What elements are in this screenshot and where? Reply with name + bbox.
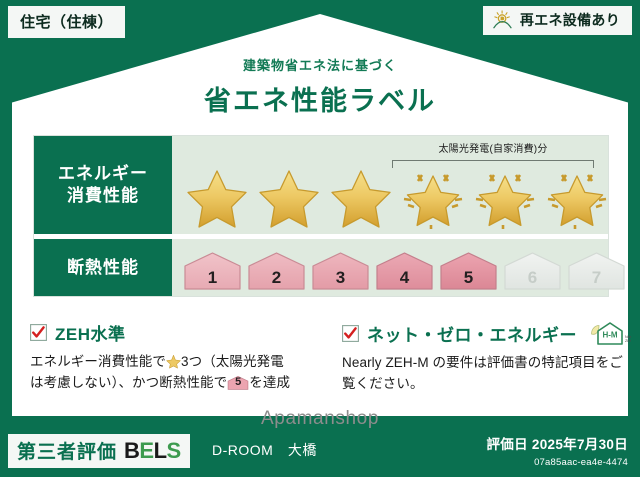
insulation-level-value: 4	[374, 268, 435, 288]
star-filled-solar	[398, 163, 468, 229]
insulation-level-value: 6	[502, 268, 563, 288]
insulation-level-badge-inactive: 6	[502, 248, 563, 292]
star-filled-solar	[470, 163, 540, 229]
star-rating	[182, 162, 602, 230]
insulation-level-badge: 4	[374, 248, 435, 292]
label-title-block: 建築物省エネ法に基づく 省エネ性能ラベル	[0, 55, 640, 118]
star-filled	[326, 163, 396, 229]
insulation-level-badge-achieved: 5	[438, 248, 499, 292]
energy-label-line1: エネルギー	[58, 163, 148, 185]
check-icon	[30, 324, 47, 341]
insulation-level-value: 2	[246, 268, 307, 288]
energy-performance-row: エネルギー 消費性能 太陽光発電(自家消費)分	[34, 136, 608, 234]
insulation-levels-area: 1 2 3	[172, 239, 608, 296]
title-main: 省エネ性能ラベル	[0, 79, 640, 118]
zeh-text-part3: を達成	[249, 375, 290, 390]
energy-performance-label: エネルギー 消費性能	[34, 136, 172, 234]
insulation-level-badge: 1	[182, 248, 243, 292]
insulation-performance-label: 断熱性能	[34, 239, 172, 296]
nzeb-heading: ネット・ゼロ・エネルギー H-M Nearly ZEH-M	[342, 320, 631, 346]
insulation-level-badge-inactive: 7	[566, 248, 627, 292]
zeh-text-part2: は考慮しない）、かつ断熱性能で	[30, 375, 227, 390]
insulation-level-badge: 3	[310, 248, 371, 292]
title-subtitle: 建築物省エネ法に基づく	[0, 55, 640, 74]
insulation-level-value: 3	[310, 268, 371, 288]
building-type-tag: 住宅（住棟）	[8, 6, 125, 38]
evaluation-info: 評価日 2025年7月30日 07a85aac-ea4e-4474	[486, 433, 628, 468]
sun-icon	[492, 10, 514, 30]
watermark: Apamanshop	[0, 408, 640, 430]
svg-text:H-M: H-M	[602, 331, 617, 340]
project-name: D-ROOM 大橋	[212, 440, 317, 460]
star-filled	[254, 163, 324, 229]
zeh-description: エネルギー消費性能で3つ（太陽光発電は考慮しない）、かつ断熱性能で5を達成	[30, 352, 330, 394]
certification-info-row: ZEH水準 エネルギー消費性能で3つ（太陽光発電は考慮しない）、かつ断熱性能で5…	[30, 320, 618, 395]
zeh-m-house-logo: H-M Nearly ZEH-M	[585, 320, 631, 346]
insulation-level-value: 1	[182, 268, 243, 288]
rating-card: エネルギー 消費性能 太陽光発電(自家消費)分	[33, 135, 609, 297]
insulation-level-value: 5	[438, 268, 499, 288]
zeh-title: ZEH水準	[55, 320, 126, 345]
nzeb-description: Nearly ZEH-M の要件は評価書の特記項目をご覧ください。	[342, 353, 631, 395]
energy-stars-area: 太陽光発電(自家消費)分	[172, 136, 608, 234]
bels-logo: BELS	[124, 438, 181, 464]
solar-bracket-label: 太陽光発電(自家消費)分	[390, 140, 596, 155]
insulation-level-badge: 2	[246, 248, 307, 292]
renewable-badge-label: 再エネ設備あり	[520, 10, 620, 30]
energy-label-line2: 消費性能	[67, 185, 139, 207]
star-filled	[182, 163, 252, 229]
net-zero-energy-block: ネット・ゼロ・エネルギー H-M Nearly ZEH-M Nearly ZEH…	[330, 320, 631, 395]
svg-text:ZEH-M: ZEH-M	[625, 339, 631, 343]
insulation-label-text: 断熱性能	[67, 257, 139, 279]
bels-jp-label: 第三者評価	[17, 437, 117, 464]
inline-house-value: 5	[227, 374, 249, 391]
insulation-level-scale: 1 2 3	[182, 243, 602, 292]
inline-house-badge: 5	[227, 374, 249, 391]
zeh-heading: ZEH水準	[30, 320, 330, 345]
bels-badge: 第三者評価 BELS	[8, 434, 190, 468]
zeh-text-part1: エネルギー消費性能で	[30, 354, 166, 369]
check-icon	[342, 325, 359, 342]
nzeb-title: ネット・ゼロ・エネルギー	[367, 321, 577, 346]
insulation-level-value: 7	[566, 268, 627, 288]
energy-label-root: 住宅（住棟） 再エネ設備あり 建築物省エネ法に基づく 省エネ性能ラベル	[0, 0, 640, 477]
insulation-performance-row: 断熱性能 1 2	[34, 234, 608, 296]
inline-star-icon	[166, 354, 181, 369]
zeh-standard-block: ZEH水準 エネルギー消費性能で3つ（太陽光発電は考慮しない）、かつ断熱性能で5…	[30, 320, 330, 395]
zeh-star-count: 3つ（太陽光発電	[181, 354, 284, 369]
evaluation-date: 評価日 2025年7月30日	[486, 433, 628, 453]
renewable-equipment-badge: 再エネ設備あり	[483, 6, 632, 35]
evaluation-id: 07a85aac-ea4e-4474	[486, 457, 628, 468]
star-filled-solar	[542, 163, 612, 229]
